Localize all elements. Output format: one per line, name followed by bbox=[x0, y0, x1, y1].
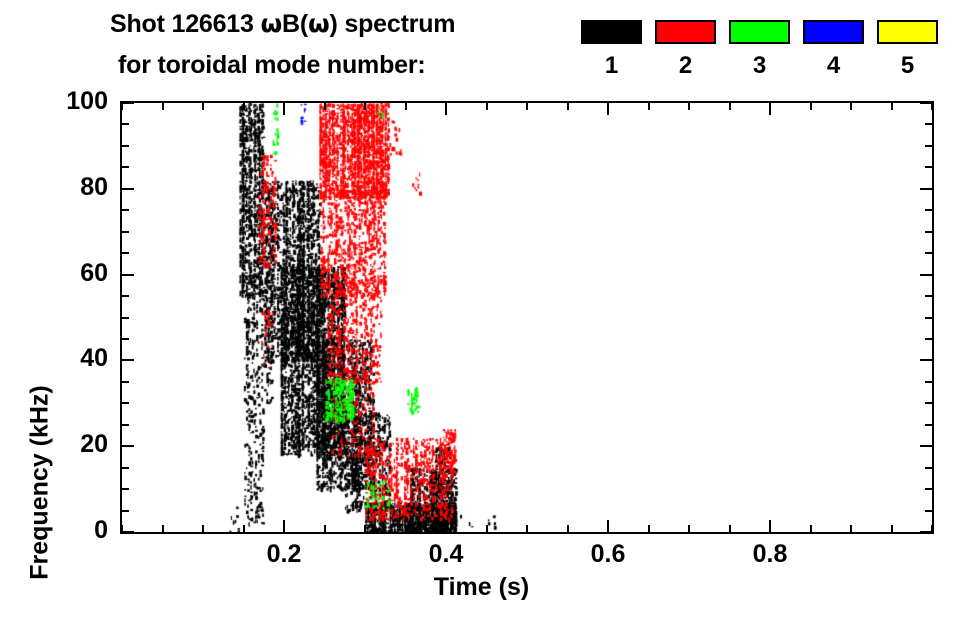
y-tick-right bbox=[925, 488, 932, 490]
x-tick-label: 0.2 bbox=[224, 540, 344, 569]
x-tick-top bbox=[486, 103, 488, 110]
y-tick bbox=[122, 381, 129, 383]
x-tick bbox=[364, 525, 366, 532]
x-tick bbox=[526, 525, 528, 532]
x-tick-top bbox=[850, 103, 852, 110]
y-tick-right bbox=[920, 531, 932, 533]
x-tick bbox=[445, 520, 447, 532]
x-tick bbox=[486, 525, 488, 532]
legend-swatch-2 bbox=[655, 20, 716, 44]
x-tick-top bbox=[243, 103, 245, 110]
y-tick bbox=[122, 488, 129, 490]
y-tick bbox=[122, 102, 134, 104]
y-tick-label: 100 bbox=[38, 87, 108, 116]
x-tick-top bbox=[445, 103, 447, 115]
y-tick-right bbox=[925, 381, 932, 383]
legend-label-4: 4 bbox=[803, 52, 864, 80]
x-tick-top bbox=[648, 103, 650, 110]
y-tick-right bbox=[920, 188, 932, 190]
y-tick bbox=[122, 467, 129, 469]
y-tick-right bbox=[920, 359, 932, 361]
x-tick bbox=[162, 525, 164, 532]
x-tick-top bbox=[202, 103, 204, 110]
y-tick bbox=[122, 317, 129, 319]
x-tick-top bbox=[121, 103, 123, 110]
y-tick-right bbox=[925, 231, 932, 233]
x-tick-top bbox=[729, 103, 731, 110]
x-tick bbox=[202, 525, 204, 532]
legend-label-2: 2 bbox=[655, 52, 716, 80]
x-tick-top bbox=[405, 103, 407, 110]
y-tick bbox=[122, 424, 129, 426]
y-tick-right bbox=[925, 295, 932, 297]
omega-symbol-1: ω bbox=[260, 9, 282, 38]
legend-swatch-4 bbox=[803, 20, 864, 44]
y-tick-right bbox=[925, 338, 932, 340]
y-tick bbox=[122, 510, 129, 512]
x-axis-title: Time (s) bbox=[0, 573, 963, 602]
x-tick bbox=[688, 525, 690, 532]
y-tick bbox=[122, 166, 129, 168]
y-tick-right bbox=[920, 274, 932, 276]
title-text-mid: B( bbox=[282, 10, 308, 38]
y-tick bbox=[122, 445, 134, 447]
y-tick-right bbox=[925, 123, 932, 125]
x-tick bbox=[769, 520, 771, 532]
y-tick-right bbox=[925, 424, 932, 426]
spectrogram-canvas bbox=[122, 103, 932, 532]
y-tick bbox=[122, 338, 129, 340]
legend: 12345 bbox=[581, 20, 941, 86]
y-tick-right bbox=[925, 317, 932, 319]
x-tick-top bbox=[769, 103, 771, 115]
x-tick bbox=[607, 520, 609, 532]
x-tick-top bbox=[526, 103, 528, 110]
y-tick-right bbox=[925, 166, 932, 168]
legend-item-3: 3 bbox=[729, 20, 790, 44]
x-tick-label: 0.4 bbox=[386, 540, 506, 569]
y-tick-right bbox=[925, 209, 932, 211]
legend-item-5: 5 bbox=[877, 20, 938, 44]
y-tick bbox=[122, 252, 129, 254]
x-tick bbox=[729, 525, 731, 532]
x-tick-label: 0.8 bbox=[710, 540, 830, 569]
x-tick-top bbox=[162, 103, 164, 110]
title-text-suffix: ) spectrum bbox=[330, 10, 456, 38]
x-tick-top bbox=[364, 103, 366, 110]
x-tick bbox=[891, 525, 893, 532]
plot-frame bbox=[120, 101, 934, 534]
x-tick-top bbox=[931, 103, 933, 110]
y-tick bbox=[122, 145, 129, 147]
x-tick-top bbox=[891, 103, 893, 110]
y-tick bbox=[122, 295, 129, 297]
x-tick-top bbox=[324, 103, 326, 110]
legend-item-4: 4 bbox=[803, 20, 864, 44]
y-tick-label: 80 bbox=[38, 173, 108, 202]
legend-swatch-3 bbox=[729, 20, 790, 44]
omega-symbol-2: ω bbox=[308, 9, 330, 38]
y-tick bbox=[122, 359, 134, 361]
x-tick bbox=[243, 525, 245, 532]
legend-item-2: 2 bbox=[655, 20, 716, 44]
spectrogram-figure: Shot 126613 ωB(ω) spectrum for toroidal … bbox=[0, 0, 963, 615]
legend-label-3: 3 bbox=[729, 52, 790, 80]
x-tick bbox=[648, 525, 650, 532]
y-tick-right bbox=[925, 252, 932, 254]
legend-label-1: 1 bbox=[581, 52, 642, 80]
x-tick bbox=[405, 525, 407, 532]
x-tick-label: 0.6 bbox=[548, 540, 668, 569]
legend-swatch-5 bbox=[877, 20, 938, 44]
x-tick-top bbox=[283, 103, 285, 115]
page-title: Shot 126613 ωB(ω) spectrum bbox=[110, 9, 455, 39]
x-tick bbox=[283, 520, 285, 532]
y-tick-right bbox=[920, 445, 932, 447]
x-tick bbox=[810, 525, 812, 532]
x-tick-top bbox=[810, 103, 812, 110]
y-tick bbox=[122, 531, 134, 533]
title-text-prefix: Shot 126613 bbox=[110, 10, 260, 38]
y-axis-title: Frequency (kHz) bbox=[26, 333, 55, 633]
x-tick bbox=[324, 525, 326, 532]
x-tick bbox=[567, 525, 569, 532]
title-subline: for toroidal mode number: bbox=[118, 51, 426, 80]
y-tick-label: 60 bbox=[38, 259, 108, 288]
x-tick-top bbox=[688, 103, 690, 110]
x-tick-top bbox=[607, 103, 609, 115]
legend-label-5: 5 bbox=[877, 52, 938, 80]
y-tick bbox=[122, 123, 129, 125]
y-tick bbox=[122, 188, 134, 190]
y-tick bbox=[122, 209, 129, 211]
y-tick-right bbox=[925, 467, 932, 469]
y-axis-title-wrapper: Frequency (kHz) bbox=[10, 168, 44, 468]
x-tick bbox=[850, 525, 852, 532]
y-tick bbox=[122, 274, 134, 276]
x-tick-top bbox=[567, 103, 569, 110]
y-tick bbox=[122, 402, 129, 404]
y-tick bbox=[122, 231, 129, 233]
y-tick-right bbox=[925, 145, 932, 147]
legend-swatch-1 bbox=[581, 20, 642, 44]
y-tick-right bbox=[925, 402, 932, 404]
legend-item-1: 1 bbox=[581, 20, 642, 44]
y-tick-right bbox=[920, 102, 932, 104]
y-tick-right bbox=[925, 510, 932, 512]
